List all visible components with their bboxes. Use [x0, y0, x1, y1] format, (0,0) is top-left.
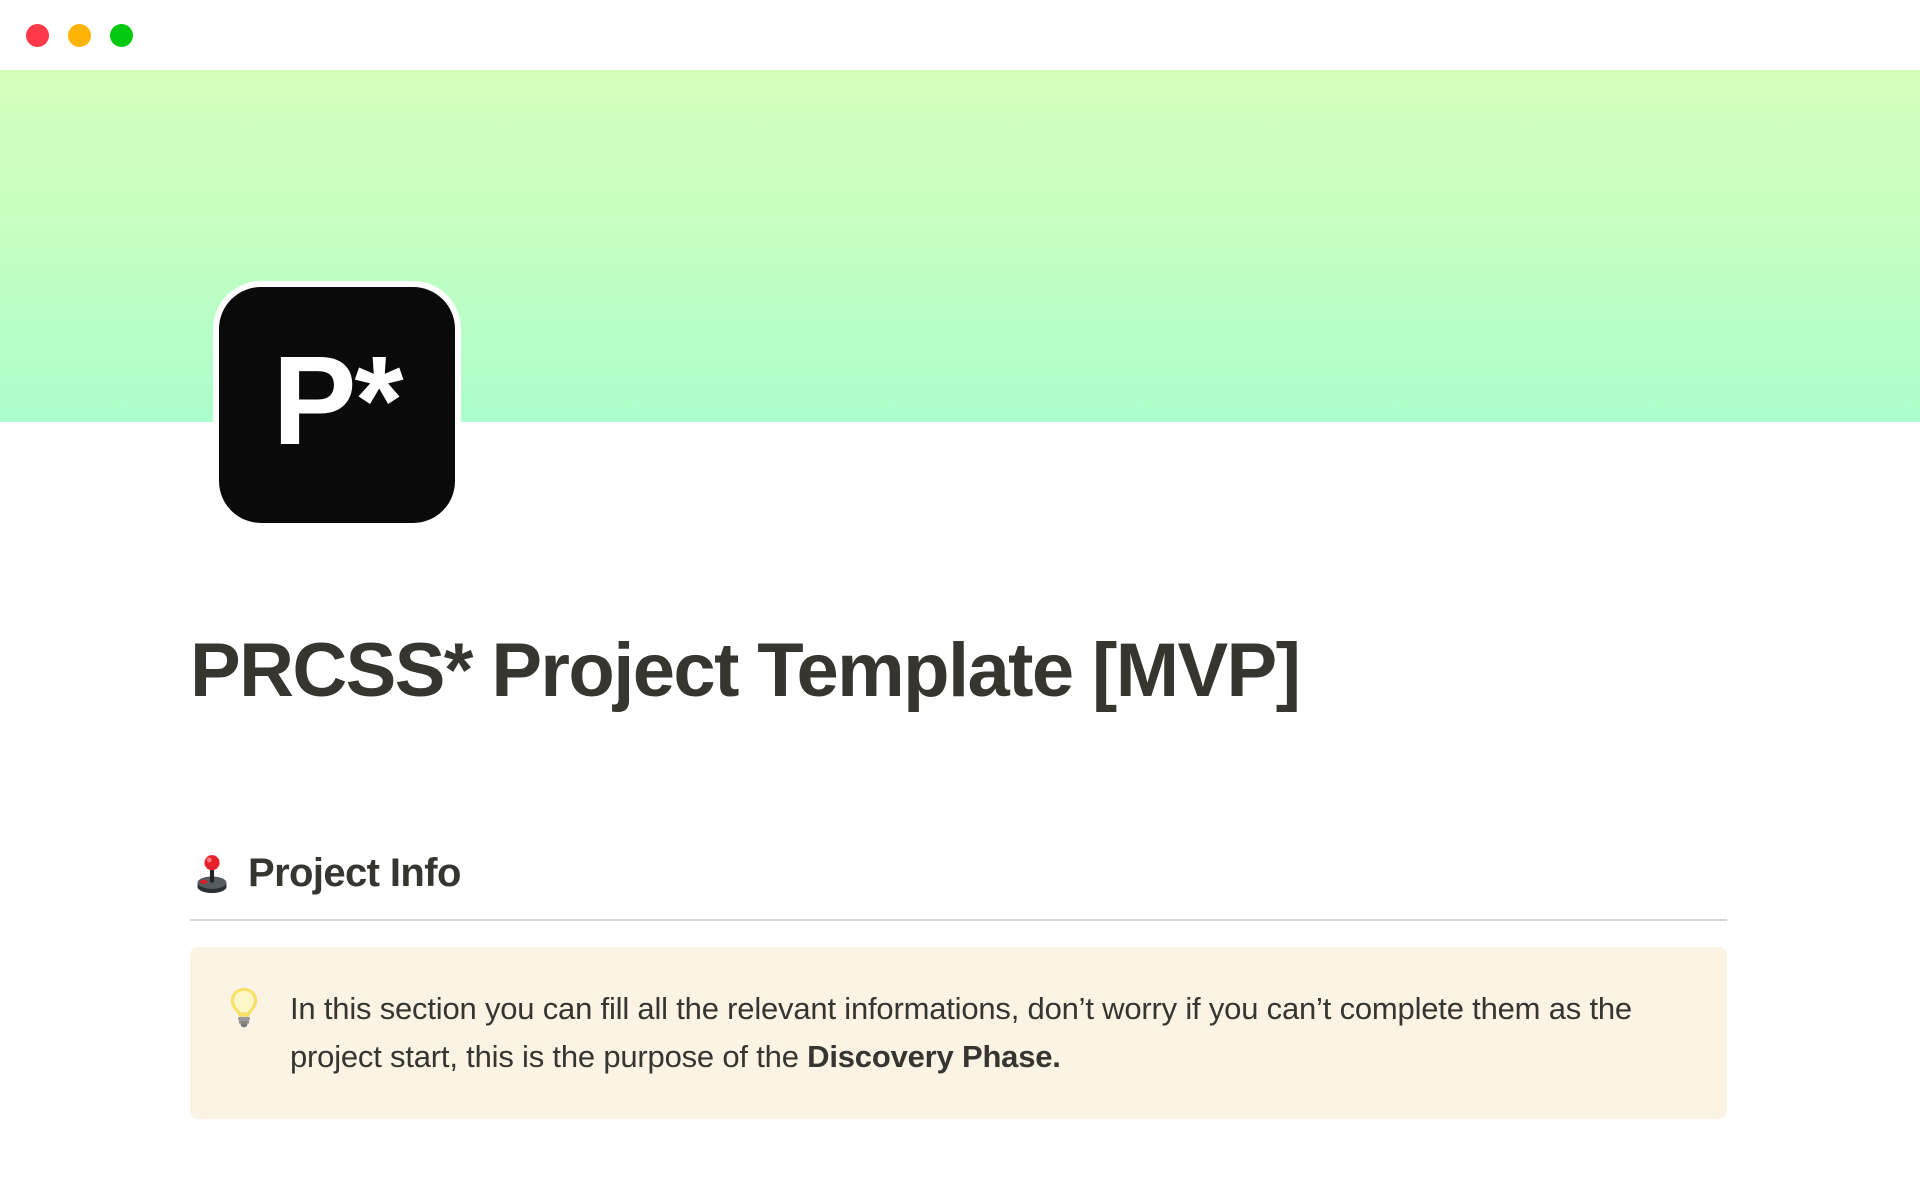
- section-heading-label: Project Info: [248, 849, 461, 897]
- callout-text-bold: Discovery Phase.: [807, 1039, 1061, 1074]
- light-bulb-icon: [226, 985, 272, 1029]
- callout-text: In this section you can fill all the rel…: [290, 985, 1685, 1081]
- document-body: PRCSS* Project Template [MVP]: [0, 590, 1920, 1119]
- joystick-icon: [190, 851, 234, 895]
- close-window-button[interactable]: [26, 24, 49, 47]
- app-window: P* PRCSS* Project Template [MVP]: [0, 0, 1920, 1200]
- maximize-window-button[interactable]: [110, 24, 133, 47]
- minimize-window-button[interactable]: [68, 24, 91, 47]
- window-titlebar: [0, 0, 1920, 70]
- section-divider: [190, 919, 1727, 921]
- callout-block[interactable]: In this section you can fill all the rel…: [190, 947, 1727, 1119]
- section-heading-project-info[interactable]: Project Info: [190, 849, 1732, 897]
- page-content: P* PRCSS* Project Template [MVP]: [0, 70, 1920, 1200]
- page-icon-glyph: P*: [272, 338, 401, 464]
- page-icon[interactable]: P*: [213, 281, 461, 529]
- page-title[interactable]: PRCSS* Project Template [MVP]: [190, 628, 1732, 713]
- traffic-light-controls: [26, 24, 133, 47]
